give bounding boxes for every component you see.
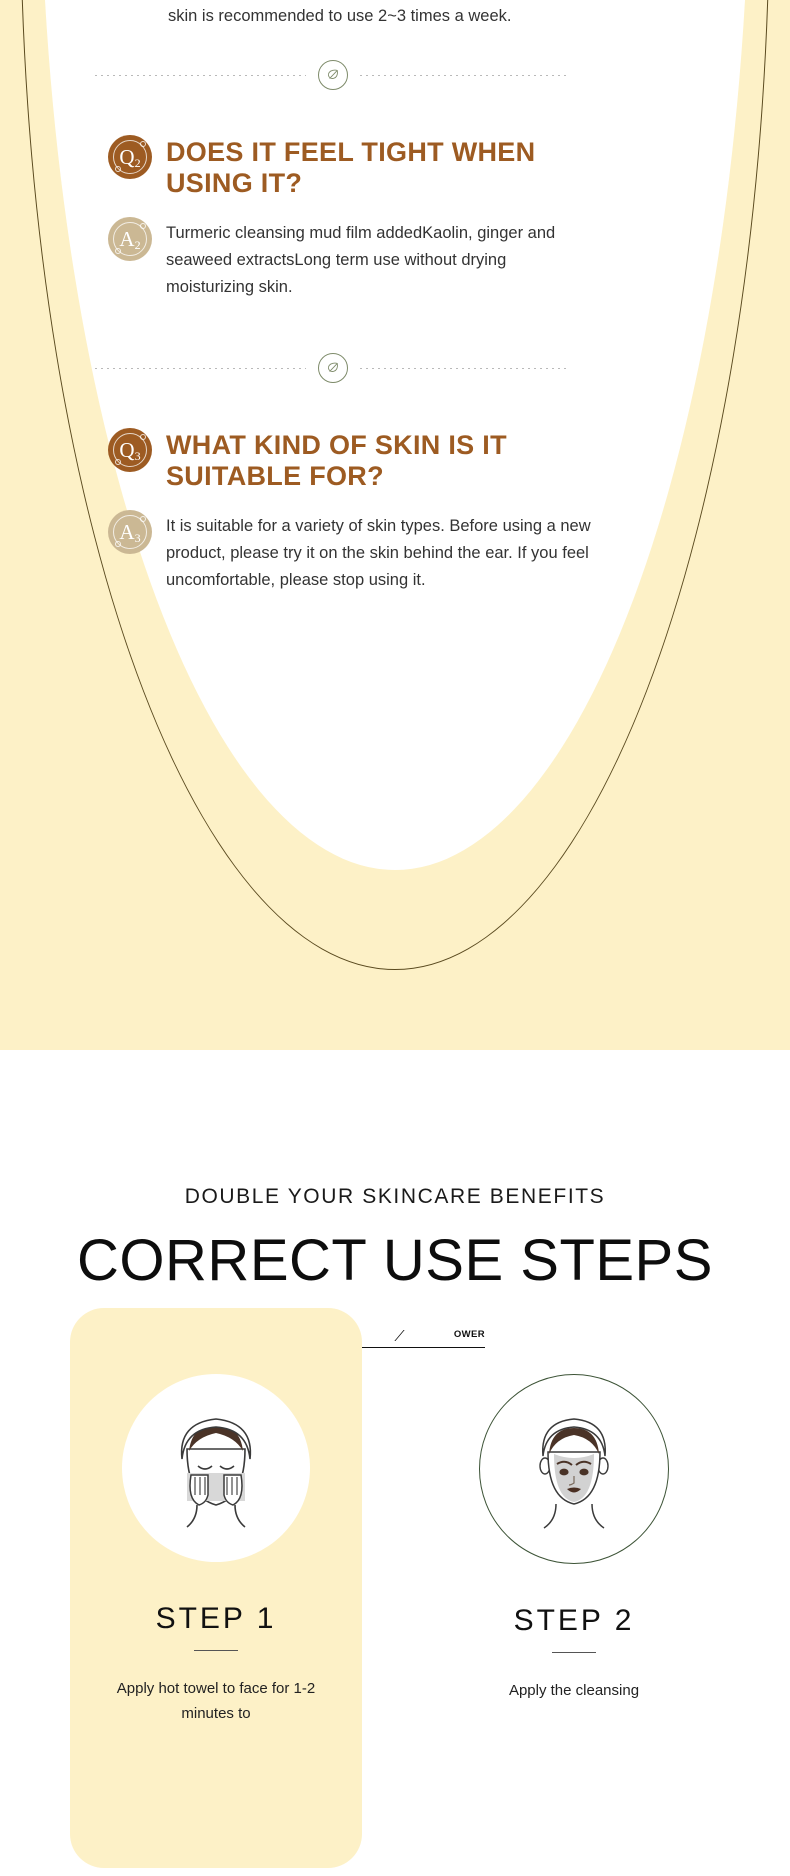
faq-content: skin is recommended to use 2~3 times a w… xyxy=(0,0,790,1050)
divider-dots-left xyxy=(95,368,306,369)
leaf-icon xyxy=(318,60,348,90)
faq-answer-row-2: A2 Turmeric cleansing mud film addedKaol… xyxy=(108,217,790,300)
question-badge-label-2: Q2 xyxy=(119,147,140,168)
badge-dot-top xyxy=(140,516,146,522)
step-description-2: Apply the cleansing xyxy=(428,1679,720,1703)
answer-badge-index-3: 3 xyxy=(135,531,141,545)
answer-badge-index-2: 2 xyxy=(135,238,141,252)
step-title-2: STEP 2 xyxy=(428,1604,720,1638)
faq-previous-answer-text: skin is recommended to use 2~3 times a w… xyxy=(168,0,628,30)
badge-dot-top xyxy=(140,141,146,147)
faq-question-row-2: Q2 DOES IT FEEL TIGHT WHEN USING IT? xyxy=(108,135,790,199)
faq-section: skin is recommended to use 2~3 times a w… xyxy=(0,0,790,1050)
product-detail-page: skin is recommended to use 2~3 times a w… xyxy=(0,0,790,1876)
leaf-icon xyxy=(318,353,348,383)
divider-dots-right xyxy=(360,75,571,76)
question-badge-label-3: Q3 xyxy=(119,440,140,461)
face-with-towel-icon xyxy=(122,1374,310,1562)
step-card-2[interactable]: STEP 2 Apply the cleansing xyxy=(428,1308,720,1868)
faq-question-row-3: Q3 WHAT KIND OF SKIN IS IT SUITABLE FOR? xyxy=(108,428,790,492)
faq-answer-text-2: Turmeric cleansing mud film addedKaolin,… xyxy=(166,217,598,300)
faq-question-text-3: WHAT KIND OF SKIN IS IT SUITABLE FOR? xyxy=(166,428,566,492)
step-description-1: Apply hot towel to face for 1-2 minutes … xyxy=(70,1677,362,1726)
answer-badge-3: A3 xyxy=(108,510,152,554)
answer-badge-label-3: A3 xyxy=(119,522,140,543)
steps-kicker: DOUBLE YOUR SKINCARE BENEFITS xyxy=(0,1185,790,1209)
faq-answer-text-3: It is suitable for a variety of skin typ… xyxy=(166,510,616,593)
badge-dot-top xyxy=(140,434,146,440)
question-badge-3: Q3 xyxy=(108,428,152,472)
step-card-1[interactable]: STEP 1 Apply hot towel to face for 1-2 m… xyxy=(70,1308,362,1868)
question-badge-2: Q2 xyxy=(108,135,152,179)
faq-previous-answer-tail: skin is recommended to use 2~3 times a w… xyxy=(168,0,628,30)
step-title-1: STEP 1 xyxy=(70,1602,362,1636)
faq-answer-row-3: A3 It is suitable for a variety of skin … xyxy=(108,510,790,593)
steps-row: STEP 1 Apply hot towel to face for 1-2 m… xyxy=(0,1308,790,1868)
correct-use-steps-section: DOUBLE YOUR SKINCARE BENEFITS CORRECT US… xyxy=(0,1050,790,1876)
steps-headline: CORRECT USE STEPS xyxy=(0,1231,790,1292)
divider-dots-left xyxy=(95,75,306,76)
faq-item-3: Q3 WHAT KIND OF SKIN IS IT SUITABLE FOR?… xyxy=(108,428,790,593)
question-badge-index-3: 3 xyxy=(135,449,141,463)
divider-dots-right xyxy=(360,368,571,369)
question-badge-index-2: 2 xyxy=(135,156,141,170)
faq-item-2: Q2 DOES IT FEEL TIGHT WHEN USING IT? A2 … xyxy=(108,135,790,300)
faq-question-text-2: DOES IT FEEL TIGHT WHEN USING IT? xyxy=(166,135,596,199)
faq-divider-1 xyxy=(95,55,570,95)
badge-dot-top xyxy=(140,223,146,229)
step-rule-2 xyxy=(552,1652,596,1653)
face-with-mask-icon xyxy=(479,1374,669,1564)
step-rule-1 xyxy=(194,1650,238,1651)
answer-badge-label-2: A2 xyxy=(119,229,140,250)
answer-badge-2: A2 xyxy=(108,217,152,261)
faq-divider-2 xyxy=(95,348,570,388)
